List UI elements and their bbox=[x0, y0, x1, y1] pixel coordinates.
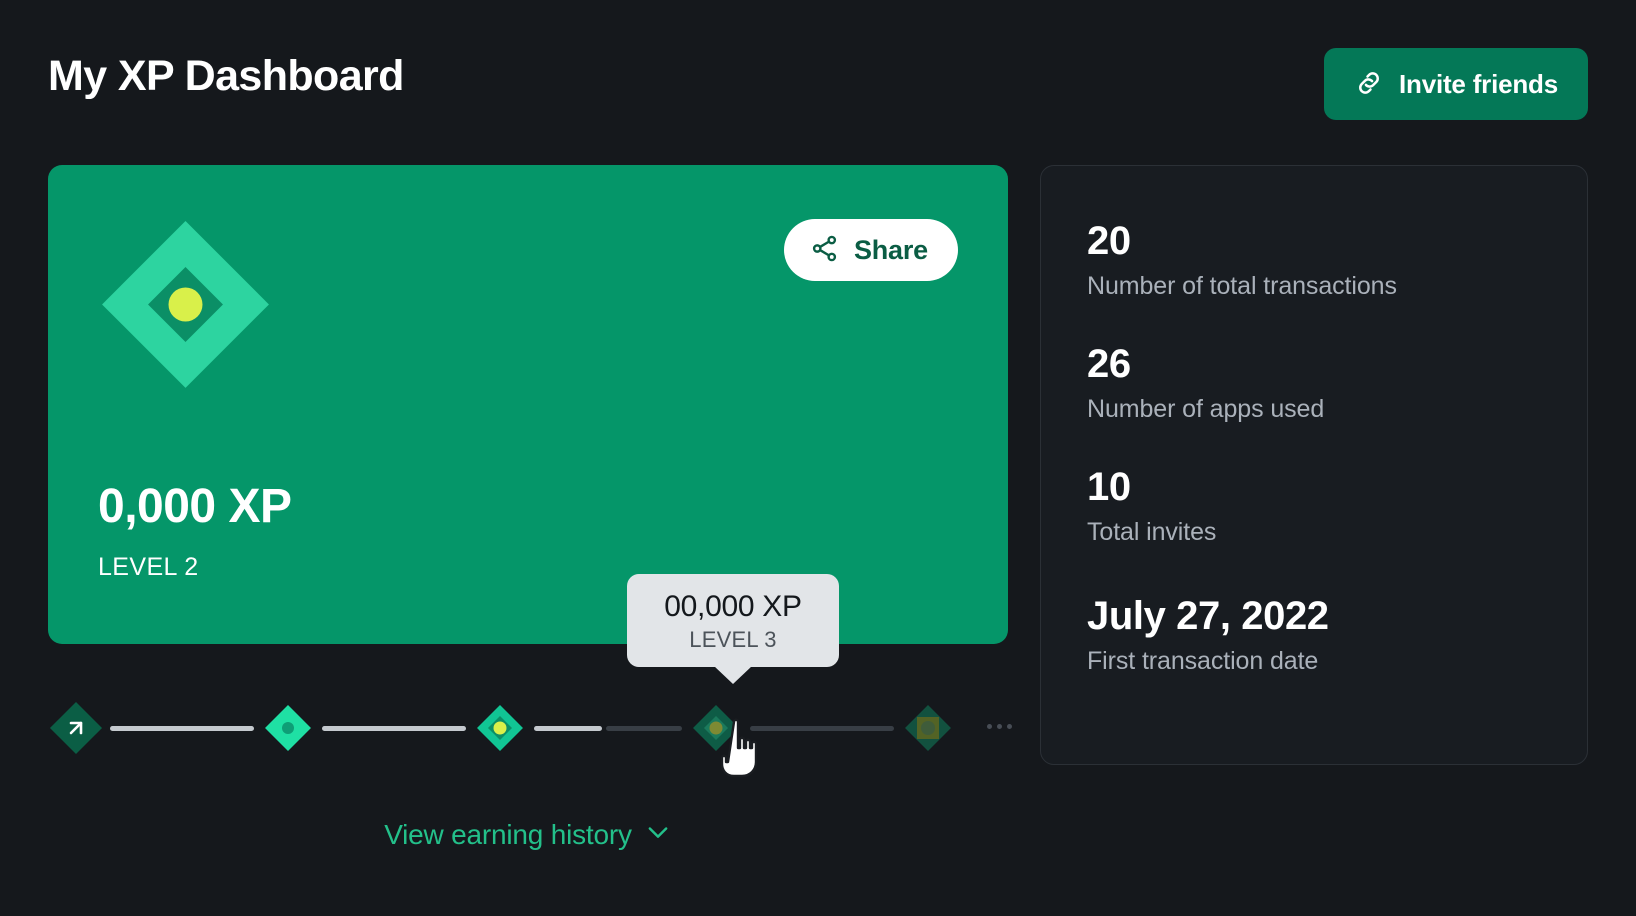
stat-label: Number of total transactions bbox=[1087, 272, 1541, 301]
level-tooltip: 00,000 XP LEVEL 3 bbox=[627, 574, 839, 667]
track-trailing-dots bbox=[987, 724, 1012, 729]
level-3-node[interactable] bbox=[472, 700, 528, 756]
level-5-node[interactable] bbox=[900, 700, 956, 756]
share-label: Share bbox=[854, 235, 928, 266]
level-1-node[interactable] bbox=[48, 700, 104, 756]
invite-friends-button[interactable]: Invite friends bbox=[1324, 48, 1588, 120]
tooltip-level: LEVEL 3 bbox=[637, 627, 829, 653]
xp-amount: 0,000 XP bbox=[98, 479, 291, 534]
stat-value: 26 bbox=[1087, 341, 1541, 387]
xp-dashboard-page: My XP Dashboard Invite friends bbox=[0, 0, 1636, 916]
invite-friends-label: Invite friends bbox=[1399, 69, 1558, 100]
stat-label: Total invites bbox=[1087, 518, 1541, 547]
page-header: My XP Dashboard Invite friends bbox=[48, 48, 1588, 124]
share-button[interactable]: Share bbox=[784, 219, 958, 281]
stat-value: July 27, 2022 bbox=[1087, 593, 1541, 639]
stat-item: July 27, 2022 First transaction date bbox=[1087, 593, 1541, 676]
progress-segment-3-empty bbox=[606, 726, 682, 731]
link-icon bbox=[1354, 68, 1384, 101]
page-title: My XP Dashboard bbox=[48, 52, 404, 101]
progress-segment-1 bbox=[110, 726, 254, 731]
progress-segment-3-filled bbox=[534, 726, 602, 731]
progress-segment-2 bbox=[322, 726, 466, 731]
stat-value: 20 bbox=[1087, 218, 1541, 264]
share-icon bbox=[810, 234, 839, 266]
chevron-down-icon bbox=[644, 818, 672, 851]
level-4-node[interactable] bbox=[688, 700, 744, 756]
progress-segment-4 bbox=[750, 726, 894, 731]
tooltip-xp: 00,000 XP bbox=[637, 590, 829, 624]
xp-summary-card: Share 0,000 XP LEVEL 2 bbox=[48, 165, 1008, 644]
view-earning-history-link[interactable]: View earning history bbox=[48, 818, 1008, 851]
stats-panel: 20 Number of total transactions 26 Numbe… bbox=[1040, 165, 1588, 765]
xp-level: LEVEL 2 bbox=[98, 553, 199, 582]
stat-item: 20 Number of total transactions bbox=[1087, 218, 1541, 301]
stat-item: 26 Number of apps used bbox=[1087, 341, 1541, 424]
stat-item: 10 Total invites bbox=[1087, 464, 1541, 547]
stat-label: First transaction date bbox=[1087, 647, 1541, 676]
level-2-node[interactable] bbox=[260, 700, 316, 756]
stat-label: Number of apps used bbox=[1087, 395, 1541, 424]
diamond-badge-icon bbox=[98, 217, 273, 392]
stat-value: 10 bbox=[1087, 464, 1541, 510]
view-earning-history-label: View earning history bbox=[384, 819, 632, 851]
level-progress-track bbox=[48, 700, 1008, 756]
